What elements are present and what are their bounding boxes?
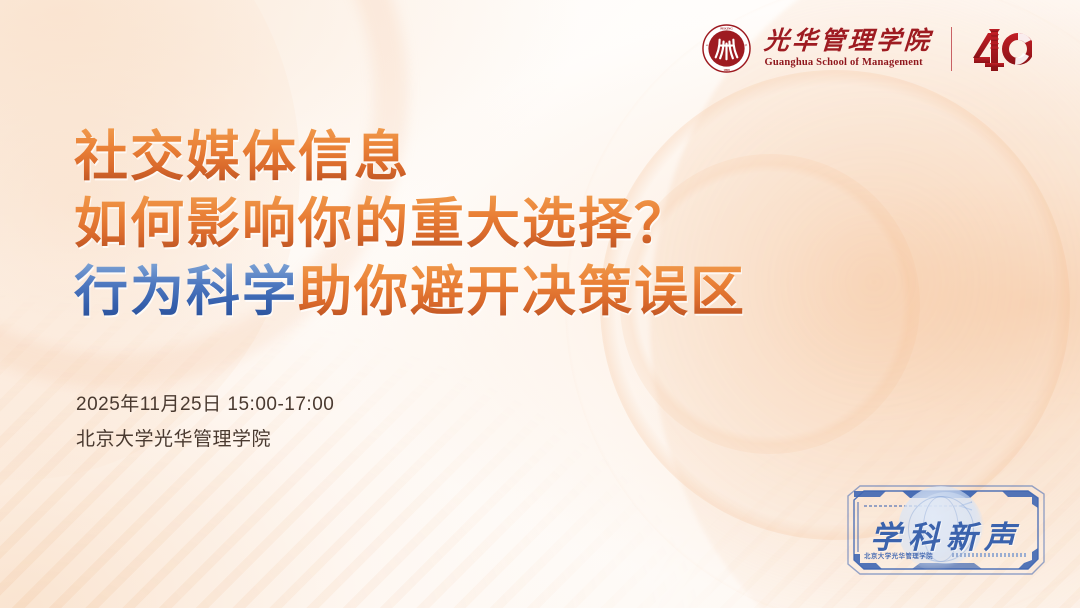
series-badge: 学科新声 北京大学光华管理学院 — [842, 482, 1050, 578]
brand-name-en: Guanghua School of Management — [764, 58, 922, 69]
brand-name-cn: 光华管理学院 — [764, 29, 934, 54]
headline-line-3: 行为科学助你避开决策误区 — [74, 263, 746, 321]
badge-dot-strip — [952, 553, 1026, 557]
headline-line-1-text: 社交媒体信息 — [74, 127, 410, 187]
svg-text:PEKING: PEKING — [721, 26, 734, 30]
headline-line-3-text: 助你避开决策误区 — [298, 262, 746, 322]
headline-block: 社交媒体信息 如何影响你的重大选择？ 行为科学助你避开决策误区 — [74, 128, 746, 321]
headline-line-2: 如何影响你的重大选择？ — [74, 195, 746, 253]
peking-university-seal-icon: PEKING 1898 U N — [702, 24, 751, 73]
event-datetime: 2025年11月25日 15:00-17:00 — [76, 387, 334, 422]
brand-divider — [951, 27, 953, 71]
headline-line-3-emphasis: 行为科学 — [74, 262, 298, 322]
headline-line-1: 社交媒体信息 — [74, 128, 746, 186]
svg-text:1898: 1898 — [724, 68, 731, 72]
badge-subtitle: 北京大学光华管理学院 — [864, 550, 933, 560]
headline-line-2-text: 如何影响你的重大选择？ — [74, 194, 690, 254]
brand-wordmark: 光华管理学院 Guanghua School of Management — [764, 29, 932, 69]
event-meta: 2025年11月25日 15:00-17:00 北京大学光华管理学院 — [76, 387, 334, 457]
event-venue: 北京大学光华管理学院 — [76, 422, 334, 457]
40th-anniversary-icon — [970, 26, 1032, 72]
poster-canvas: PEKING 1898 U N 光华管理学院 Guanghua School o… — [0, 0, 1080, 608]
brand-lockup: PEKING 1898 U N 光华管理学院 Guanghua School o… — [702, 24, 1032, 73]
